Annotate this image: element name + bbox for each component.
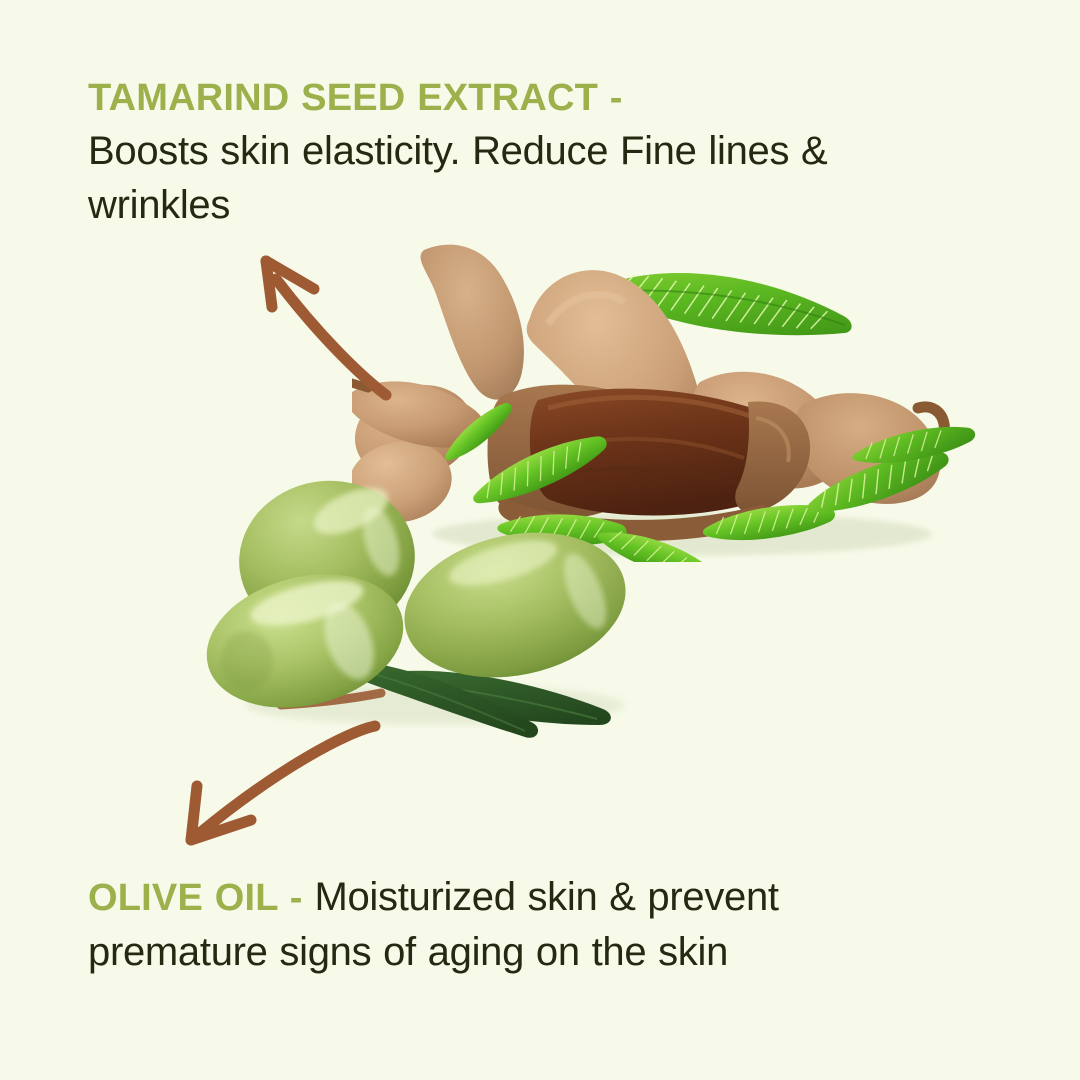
olive-photo (185, 455, 705, 755)
tamarind-paragraph: TAMARIND SEED EXTRACT -Boosts skin elast… (88, 72, 918, 232)
olive-ingredient-name: OLIVE OIL - (88, 877, 303, 919)
infographic-canvas: TAMARIND SEED EXTRACT -Boosts skin elast… (0, 0, 1080, 1080)
tamarind-text-block: TAMARIND SEED EXTRACT -Boosts skin elast… (88, 72, 918, 232)
olive-paragraph: OLIVE OIL - Moisturized skin & prevent p… (88, 870, 918, 979)
olive-text-block: OLIVE OIL - Moisturized skin & prevent p… (88, 870, 918, 979)
tamarind-ingredient-name: TAMARIND SEED EXTRACT - (88, 72, 918, 124)
tamarind-description: Boosts skin elasticity. Reduce Fine line… (88, 129, 827, 227)
